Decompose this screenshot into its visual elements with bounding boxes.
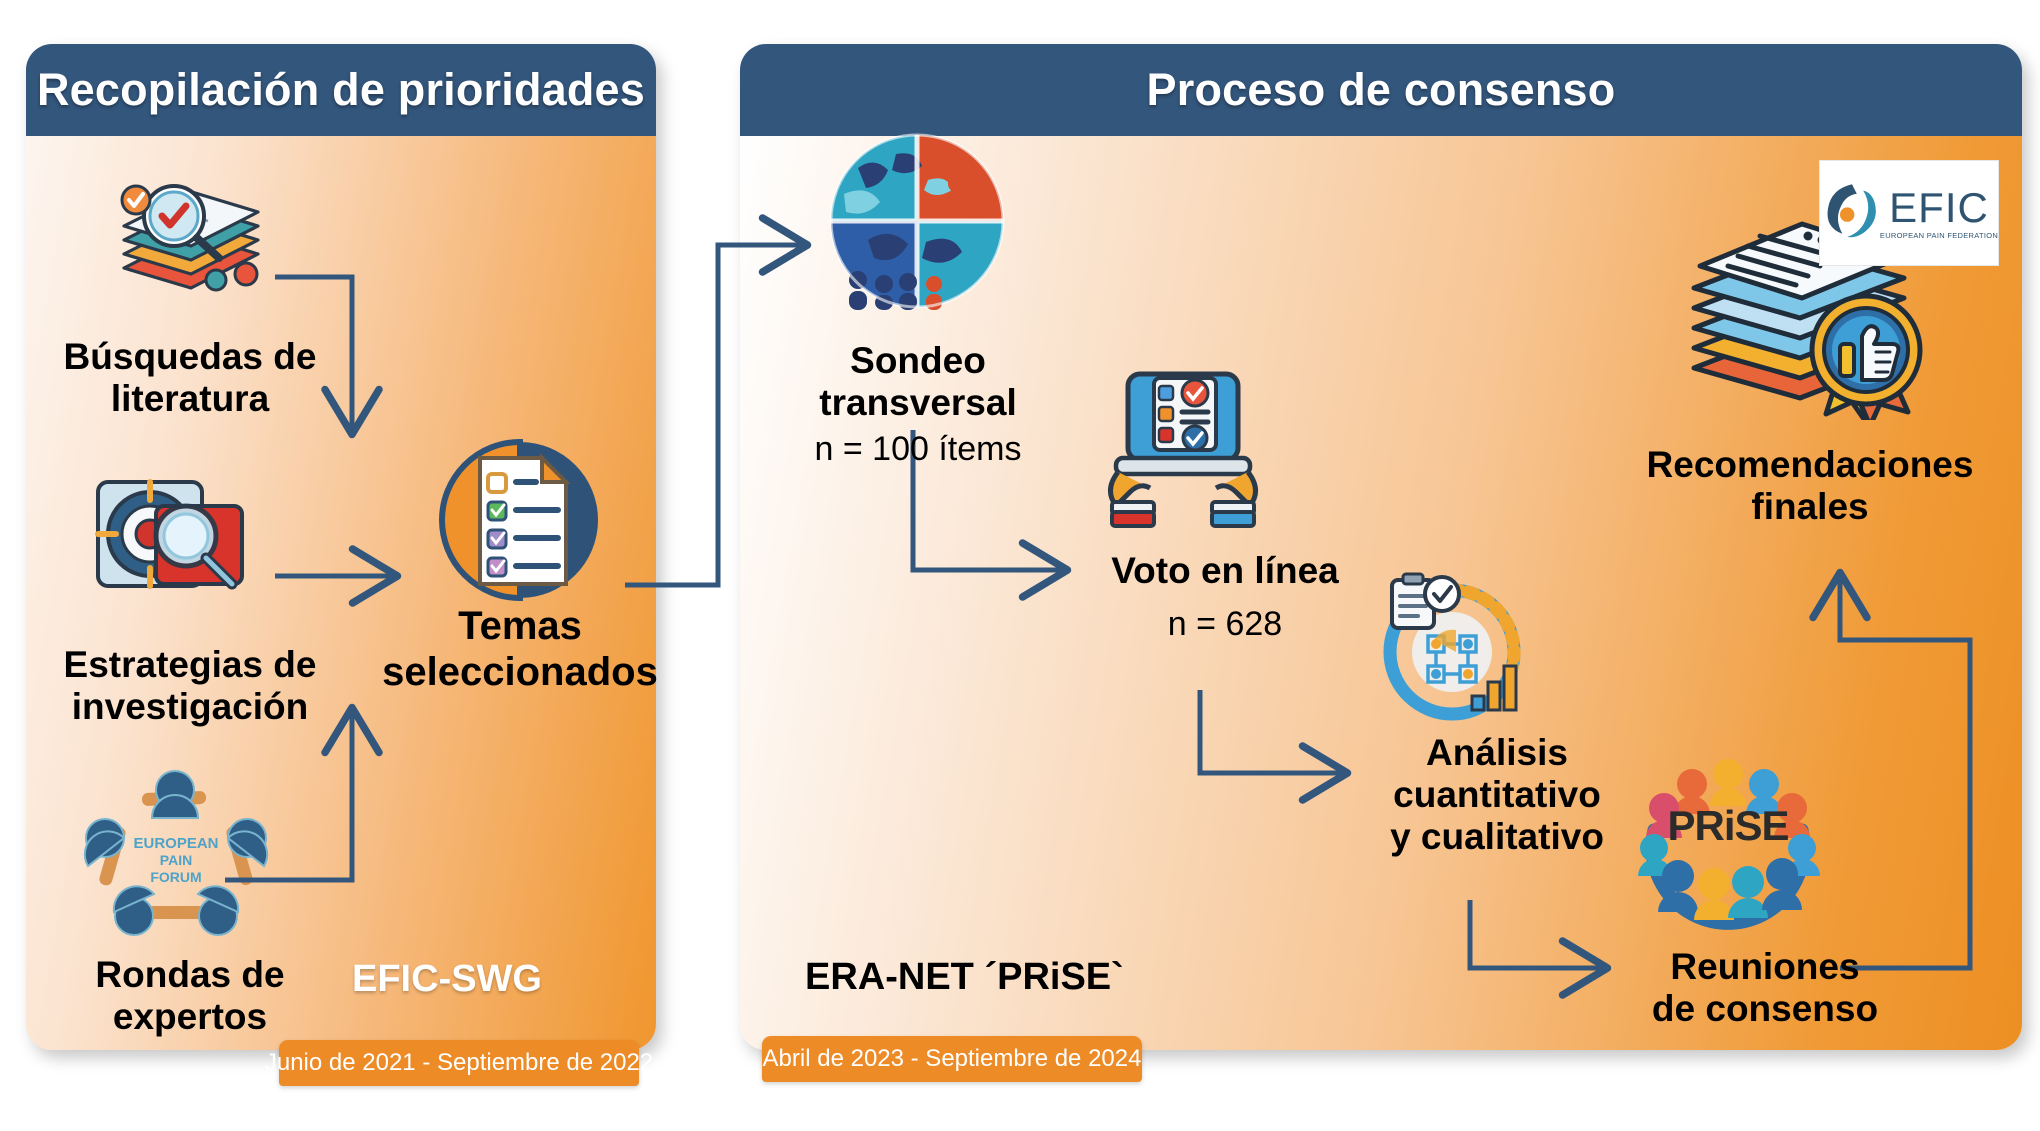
panel-right-title: Proceso de consenso: [740, 44, 2022, 136]
svg-text:EUROPEAN: EUROPEAN: [133, 835, 218, 852]
documents-magnifier-check-icon: [96, 170, 286, 300]
node-label-recomendaciones: Recomendaciones finales: [1600, 444, 2020, 528]
program-tag-era-net-prise: ERA-NET ´PRiSE`: [805, 956, 1124, 999]
node-label-sondeo: Sondeo transversal: [768, 340, 1068, 424]
node-label-rondas: Rondas de expertos: [30, 954, 350, 1038]
node-sub-voto: n = 628: [1060, 605, 1390, 644]
checklist-circle-icon: [430, 430, 610, 610]
program-tag-efic-swg: EFIC-SWG: [352, 958, 542, 1001]
efic-logo-subtext: EUROPEAN PAIN FEDERATION: [1880, 231, 1998, 240]
node-label-estrategias: Estrategias de investigación: [30, 644, 350, 728]
svg-text:FORUM: FORUM: [150, 869, 201, 885]
analytics-chart-icon: [1372, 570, 1542, 730]
efic-logo-text: EFIC: [1889, 187, 1989, 229]
node-label-reuniones: Reuniones de consenso: [1610, 946, 1920, 1030]
node-label-busquedas: Búsquedas de literatura: [30, 336, 350, 420]
european-pain-forum-logo-icon: EUROPEAN PAIN FORUM: [76, 766, 276, 944]
globe-people-icon: [828, 132, 1006, 310]
node-label-temas: Temas seleccionados: [350, 604, 690, 695]
target-magnifier-icon: [82, 462, 272, 602]
hands-ballot-icon: [1098, 368, 1268, 528]
diagram-canvas: Recopilación de prioridades Proceso de c…: [0, 0, 2040, 1131]
svg-text:PAIN: PAIN: [160, 852, 192, 868]
panel-left-title: Recopilación de prioridades: [26, 44, 656, 136]
date-badge-right: Abril de 2023 - Septiembre de 2024: [762, 1036, 1142, 1082]
efic-logo: EFIC EUROPEAN PAIN FEDERATION: [1819, 160, 1999, 266]
node-label-voto: Voto en línea: [1060, 550, 1390, 592]
node-sub-sondeo: n = 100 ítems: [768, 430, 1068, 469]
node-label-analisis: Análisis cuantitativo y cualitativo: [1332, 732, 1662, 859]
svg-text:PRiSE: PRiSE: [1667, 802, 1788, 849]
date-badge-left: Junio de 2021 - Septiembre de 2022: [279, 1040, 639, 1086]
